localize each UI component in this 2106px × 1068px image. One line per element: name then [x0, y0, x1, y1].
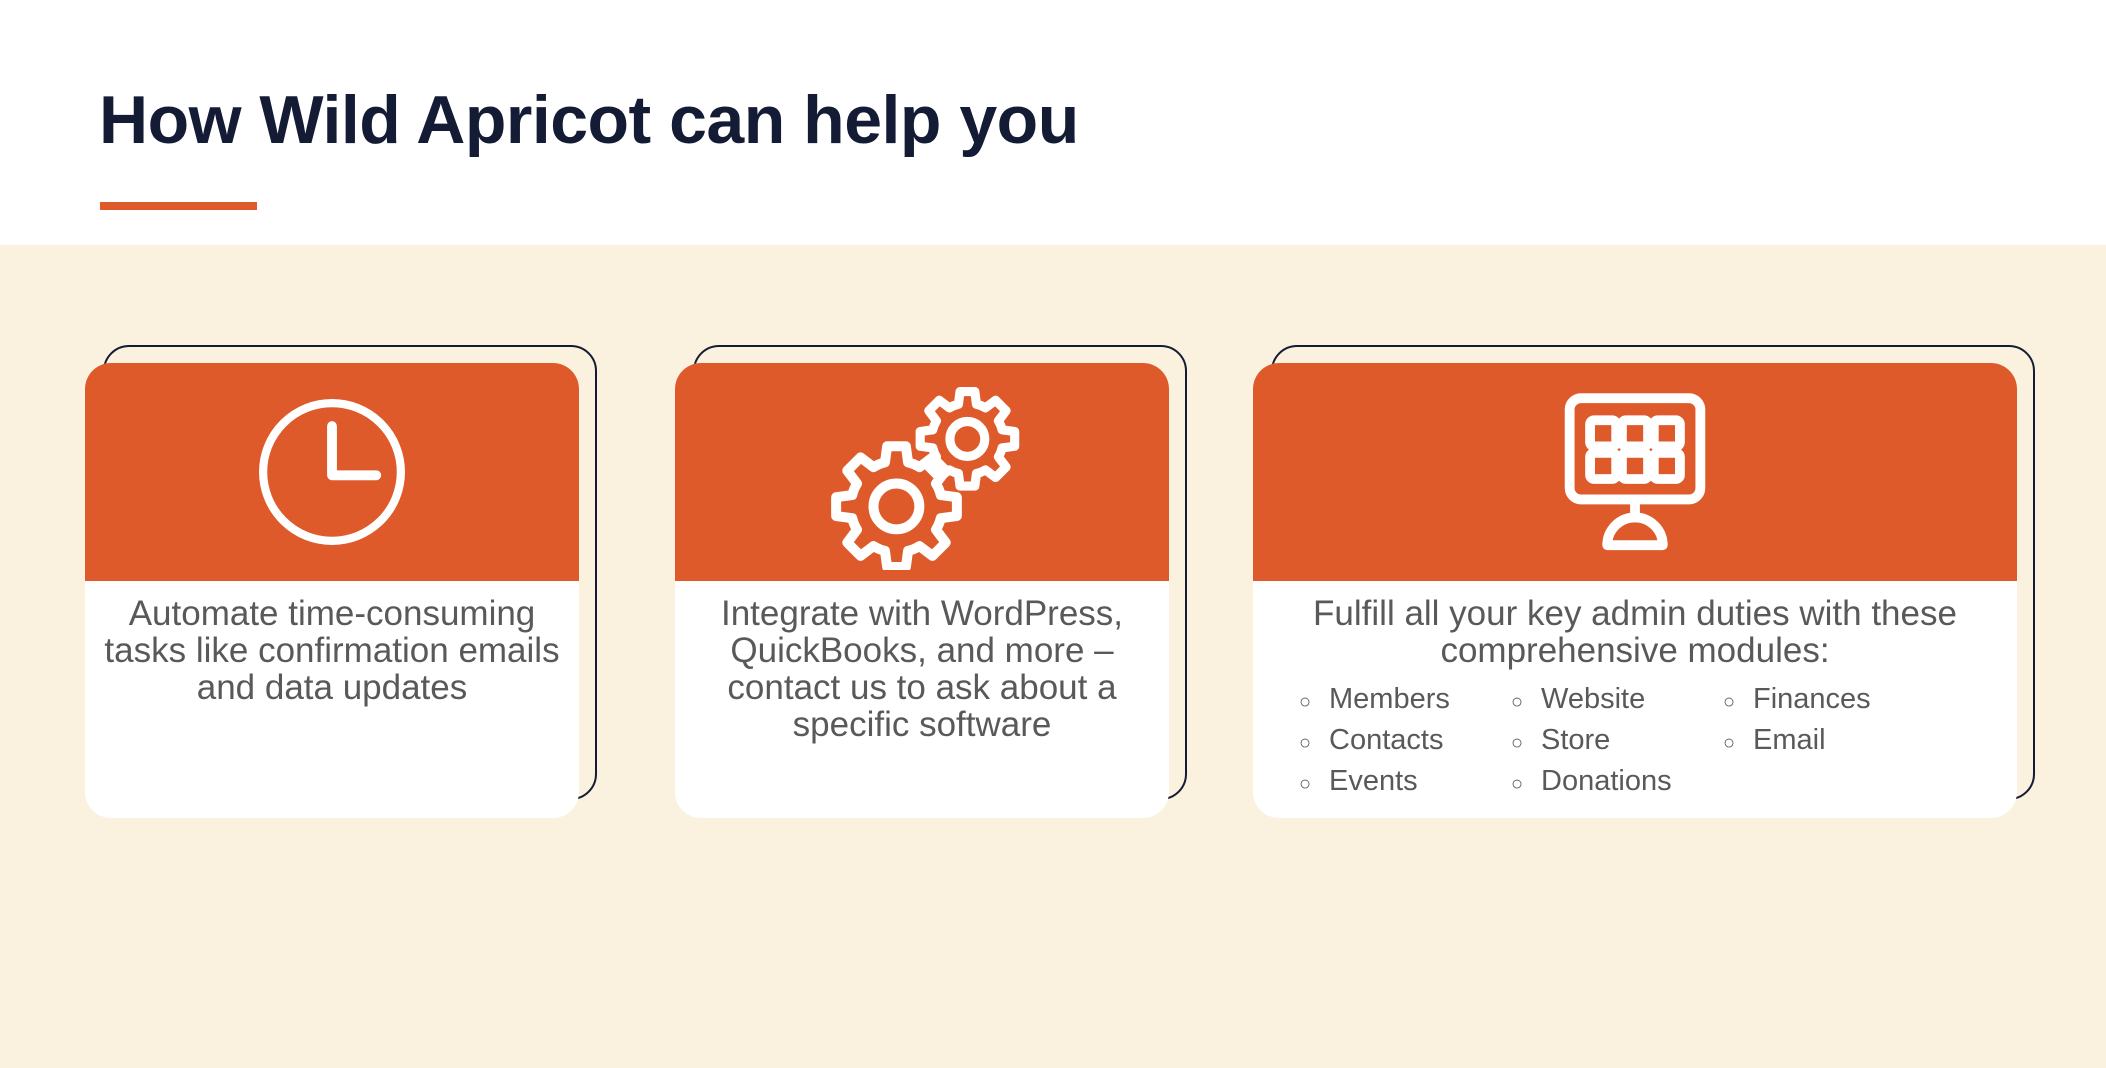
card-description: Integrate with WordPress, QuickBooks, an… [693, 595, 1151, 743]
module-label: Members [1329, 681, 1450, 718]
list-item[interactable]: ○ Contacts [1299, 722, 1475, 759]
module-label: Events [1329, 763, 1418, 800]
module-label: Finances [1753, 681, 1871, 718]
bullet-circle-icon: ○ [1299, 731, 1329, 757]
title-accent-underline [100, 202, 257, 210]
list-item[interactable]: ○ Donations [1511, 763, 1687, 800]
bullet-circle-icon: ○ [1511, 690, 1541, 716]
card-body: Integrate with WordPress, QuickBooks, an… [675, 581, 1169, 818]
header-band: How Wild Apricot can help you [0, 0, 2106, 245]
dashboard-monitor-icon [1550, 390, 1720, 555]
card-description: Fulfill all your key admin duties with t… [1271, 595, 1999, 669]
list-item[interactable]: ○ Events [1299, 763, 1475, 800]
card-surface: Automate time-consuming tasks like confi… [85, 363, 579, 818]
list-item[interactable]: ○ Finances [1723, 681, 1899, 718]
card-body: Automate time-consuming tasks like confi… [85, 581, 579, 818]
card-media-header [85, 363, 579, 581]
module-label: Donations [1541, 763, 1672, 800]
module-label: Store [1541, 722, 1610, 759]
card-body: Fulfill all your key admin duties with t… [1253, 581, 2017, 818]
list-item[interactable]: ○ Website [1511, 681, 1687, 718]
card-media-header [1253, 363, 2017, 581]
content-band: Automate time-consuming tasks like confi… [0, 245, 2106, 1068]
list-item[interactable]: ○ Store [1511, 722, 1687, 759]
bullet-circle-icon: ○ [1723, 731, 1753, 757]
module-column: ○ Website ○ Store ○ Donations [1511, 681, 1687, 800]
list-item[interactable]: ○ Members [1299, 681, 1475, 718]
module-label: Email [1753, 722, 1826, 759]
page-title: How Wild Apricot can help you [99, 81, 1079, 159]
gears-icon [822, 374, 1022, 570]
card-surface: Integrate with WordPress, QuickBooks, an… [675, 363, 1169, 818]
module-column: ○ Finances ○ Email [1723, 681, 1899, 800]
list-item[interactable]: ○ Email [1723, 722, 1899, 759]
bullet-circle-icon: ○ [1511, 731, 1541, 757]
bullet-circle-icon: ○ [1511, 772, 1541, 798]
module-column: ○ Members ○ Contacts ○ Events [1299, 681, 1475, 800]
bullet-circle-icon: ○ [1299, 772, 1329, 798]
module-label: Contacts [1329, 722, 1443, 759]
module-label: Website [1541, 681, 1645, 718]
card-description: Automate time-consuming tasks like confi… [103, 595, 561, 706]
bullet-circle-icon: ○ [1299, 690, 1329, 716]
clock-icon [250, 390, 414, 554]
card-surface: Fulfill all your key admin duties with t… [1253, 363, 2017, 818]
module-list: ○ Members ○ Contacts ○ Events [1271, 669, 1999, 800]
bullet-circle-icon: ○ [1723, 690, 1753, 716]
card-media-header [675, 363, 1169, 581]
